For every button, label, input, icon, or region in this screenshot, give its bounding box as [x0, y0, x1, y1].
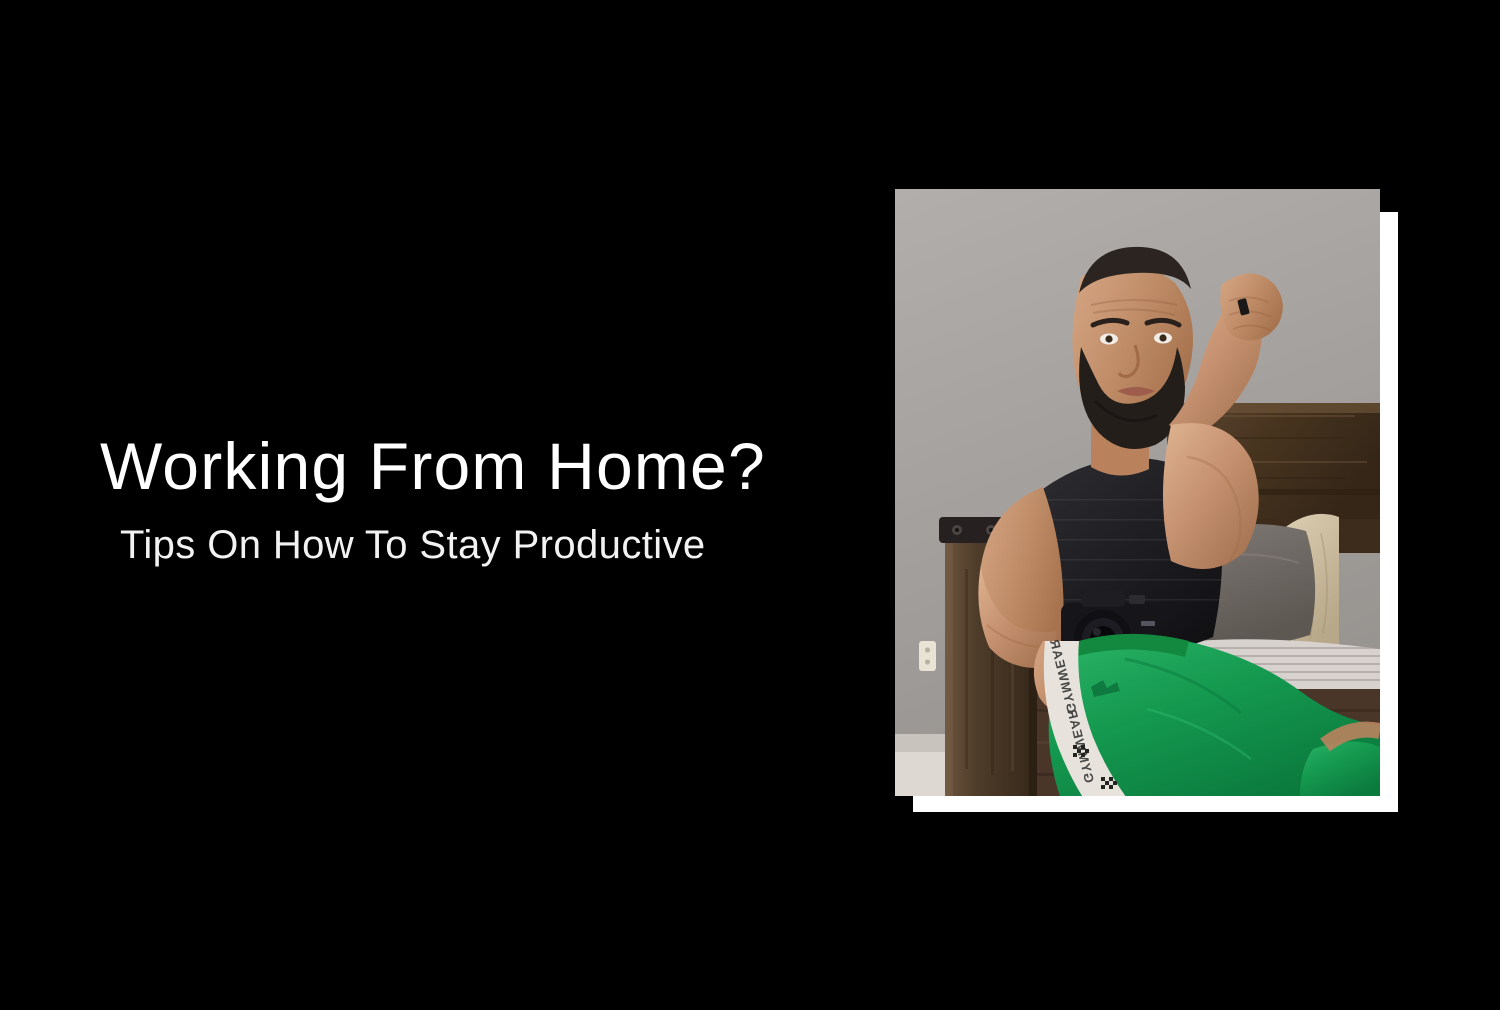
hero-photo: GYMWEAR GYMWEAR	[895, 189, 1380, 796]
hero-photo-illustration: GYMWEAR GYMWEAR	[895, 189, 1380, 796]
promo-banner: Working From Home? Tips On How To Stay P…	[0, 0, 1500, 1010]
photo-wrap: GYMWEAR GYMWEAR	[895, 189, 1400, 814]
page-subtitle: Tips On How To Stay Productive	[120, 523, 870, 567]
page-title: Working From Home?	[100, 432, 870, 501]
text-block: Working From Home? Tips On How To Stay P…	[100, 432, 870, 567]
wall-outlet-icon	[919, 641, 936, 671]
